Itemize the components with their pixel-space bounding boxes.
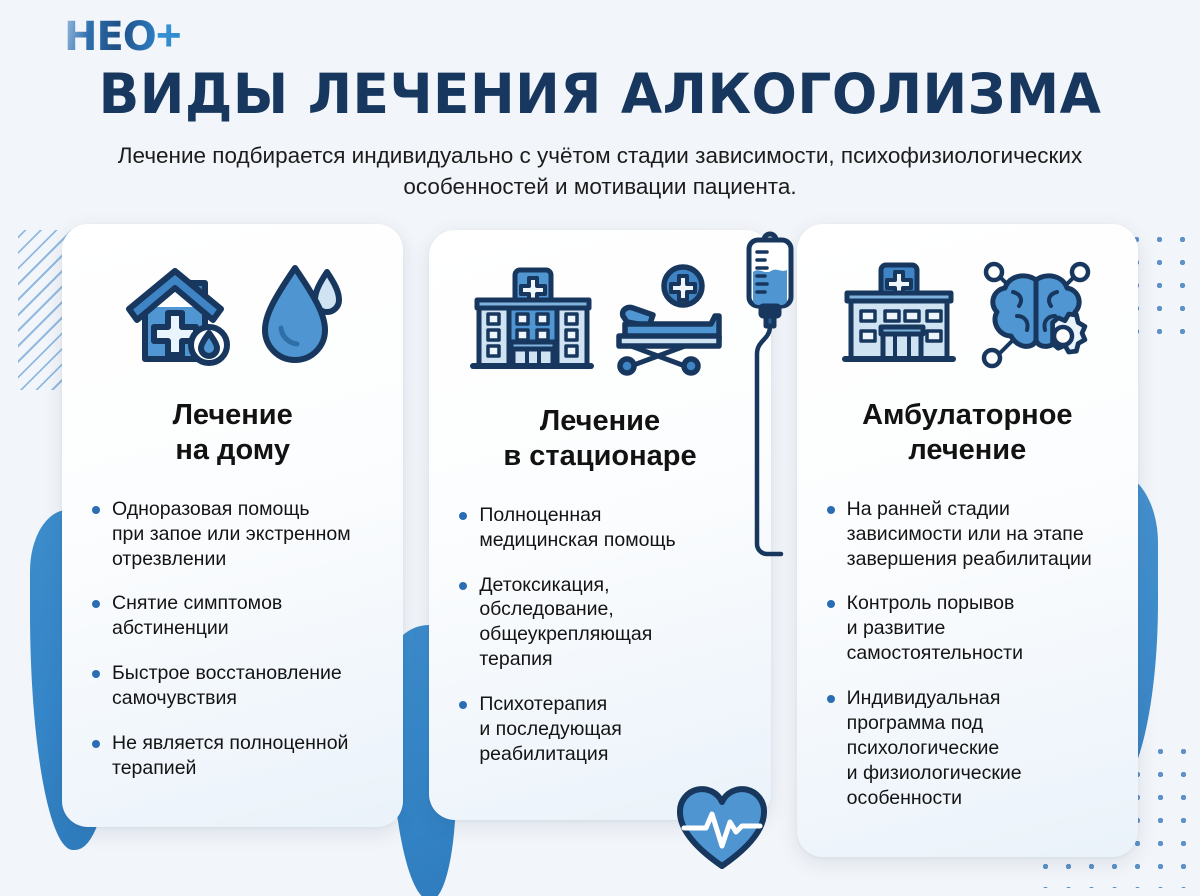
hospital-building-icon (469, 264, 595, 376)
brain-gear-icon (977, 258, 1095, 370)
list-item: Индивидуальная программа под психологиче… (825, 686, 1114, 811)
card-outpatient-treatment-bullets: На ранней стадии зависимости или на этап… (819, 497, 1116, 811)
card-home-treatment-bullets: Одноразовая помощь при запое или экстрен… (84, 497, 381, 782)
card-home-treatment-icons (84, 254, 381, 374)
brand-logo[interactable]: НЕО+ (64, 14, 181, 58)
list-item: Детоксикация, обследование, общеукрепляю… (457, 573, 746, 673)
brand-logo-text: НЕО (64, 14, 156, 60)
list-item: На ранней стадии зависимости или на этап… (825, 497, 1114, 572)
card-home-treatment[interactable]: Лечение на дому Одноразовая помощь при з… (62, 224, 403, 827)
list-item: Не является полноценной терапией (90, 731, 379, 781)
list-item: Психотерапия и последующая реабилитация (457, 692, 746, 767)
clinic-building-icon (839, 259, 961, 369)
card-inpatient-treatment[interactable]: Лечение в стационаре Полноценная медицин… (429, 230, 770, 820)
page-title: ВИДЫ ЛЕЧЕНИЯ АЛКОГОЛИЗМА (18, 58, 1182, 124)
card-outpatient-treatment[interactable]: Амбулаторное лечение На ранней стадии за… (797, 224, 1138, 857)
card-inpatient-treatment-title: Лечение в стационаре (451, 404, 748, 475)
stretcher-icon (611, 264, 731, 376)
card-inpatient-treatment-icons (451, 260, 748, 380)
list-item: Одноразовая помощь при запое или экстрен… (90, 497, 379, 572)
page-header: НЕО+ ВИДЫ ЛЕЧЕНИЯ АЛКОГОЛИЗМА Лечение по… (0, 0, 1200, 202)
list-item: Снятие симптомов абстиненции (90, 591, 379, 641)
card-outpatient-treatment-title: Амбулаторное лечение (819, 398, 1116, 469)
list-item: Быстрое восстановление самочувствия (90, 661, 379, 711)
brand-logo-plus-icon: + (156, 11, 181, 60)
list-item: Контроль порывов и развитие самостоятель… (825, 591, 1114, 666)
card-inpatient-treatment-bullets: Полноценная медицинская помощь Детоксика… (451, 503, 748, 768)
heart-pulse-icon (676, 786, 768, 872)
page-subtitle: Лечение подбирается индивидуально с учёт… (95, 140, 1105, 202)
house-medical-icon (123, 259, 241, 369)
water-drop-icon (257, 260, 343, 368)
card-outpatient-treatment-icons (819, 254, 1116, 374)
treatment-cards-container: Лечение на дому Одноразовая помощь при з… (0, 202, 1200, 857)
list-item: Полноценная медицинская помощь (457, 503, 746, 553)
card-home-treatment-title: Лечение на дому (84, 398, 381, 469)
